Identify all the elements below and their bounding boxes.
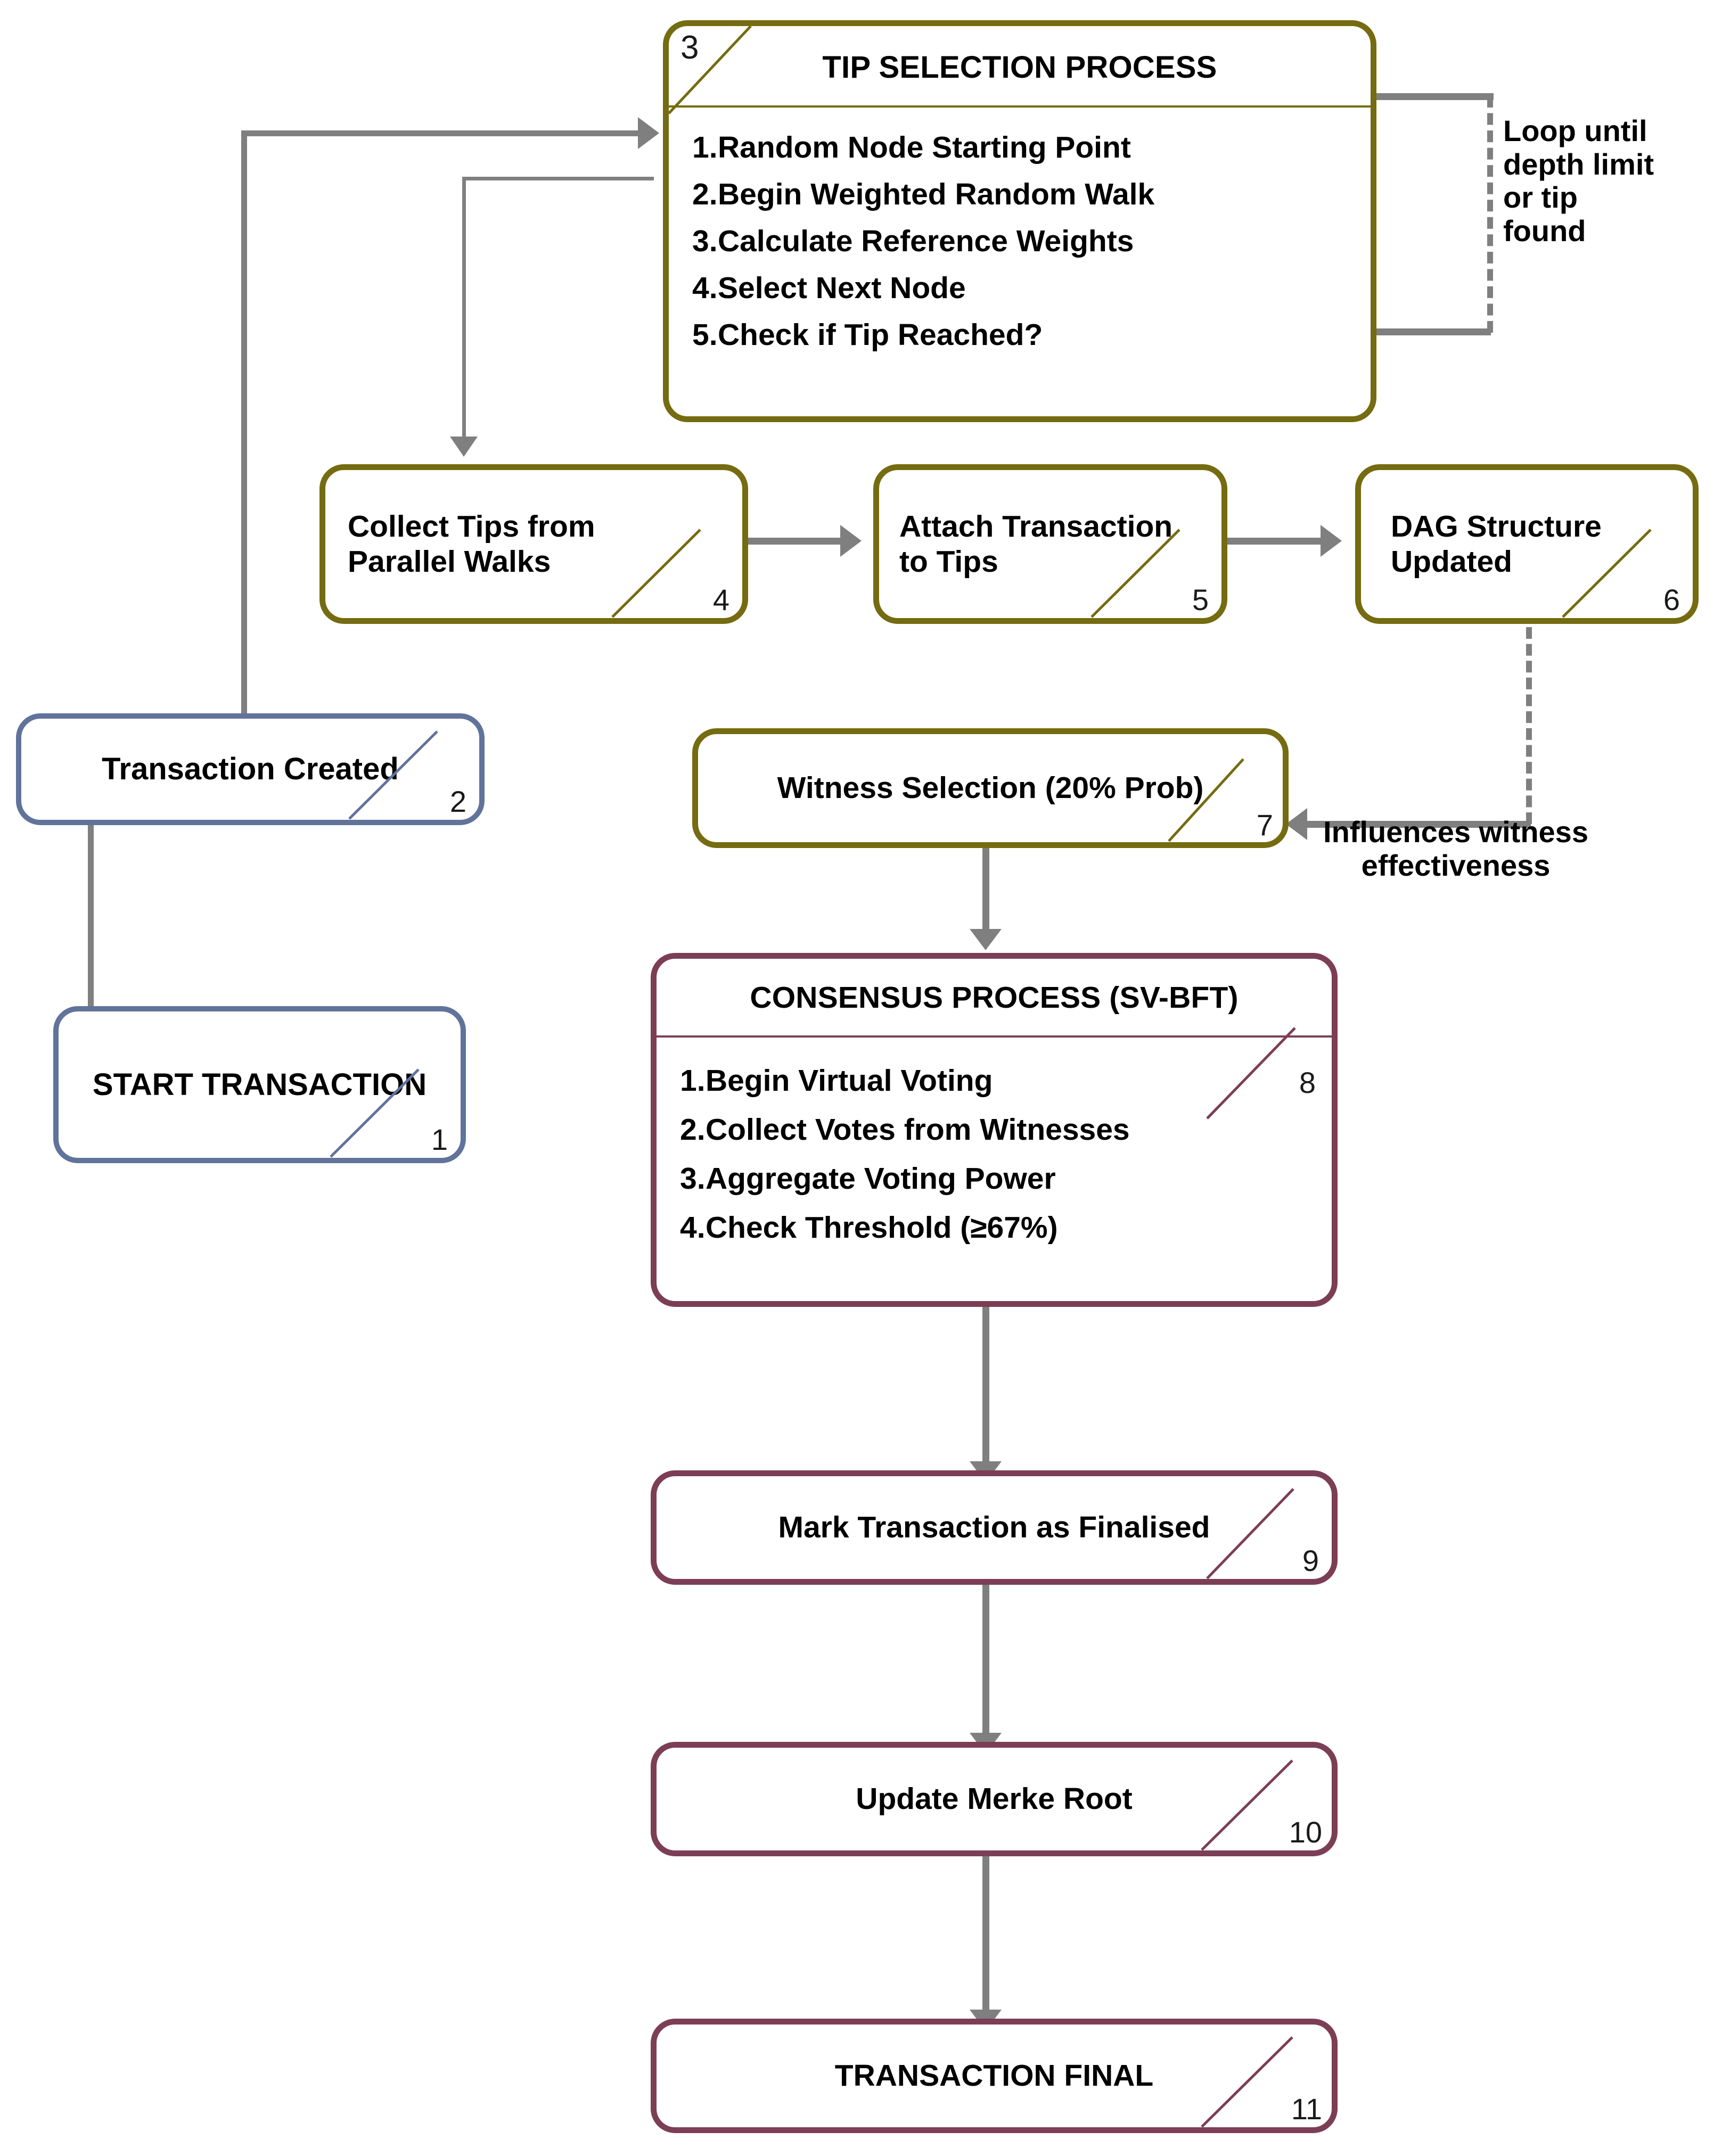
node-number: 4 — [713, 585, 729, 615]
connector-start-to-created — [88, 822, 94, 1006]
node-collect-tips[interactable]: Collect Tips from Parallel Walks 4 — [319, 464, 748, 624]
step-number: 3. — [657, 1161, 706, 1196]
connector-tipselection-to-collect-v — [462, 177, 466, 438]
influences-line-2: effectiveness — [1280, 849, 1631, 883]
step-text: Check if Tip Reached? — [718, 317, 1043, 352]
list-item: 1. Begin Virtual Voting — [657, 1063, 1332, 1098]
step-number: 4. — [669, 270, 718, 306]
step-text: Random Node Starting Point — [718, 130, 1131, 165]
step-text: Aggregate Voting Power — [706, 1161, 1056, 1196]
list-item: 1. Random Node Starting Point — [669, 130, 1371, 165]
node-number: 11 — [1291, 2094, 1322, 2124]
consensus-header: CONSENSUS PROCESS (SV-BFT) — [657, 959, 1332, 1015]
consensus-steps: 1. Begin Virtual Voting 2. Collect Votes… — [657, 1038, 1332, 1245]
loop-line-1: Loop until — [1503, 114, 1711, 148]
step-number: 5. — [669, 317, 718, 352]
node-dag-updated[interactable]: DAG Structure Updated 6 — [1355, 464, 1699, 624]
node-transaction-created[interactable]: Transaction Created 2 — [16, 713, 485, 825]
tip-selection-steps: 1. Random Node Starting Point 2. Begin W… — [669, 108, 1371, 352]
step-number: 1. — [669, 130, 718, 165]
arrowhead-witness-to-consensus — [970, 929, 1002, 950]
attach-line1: Attach Transaction — [879, 509, 1186, 544]
node-witness-selection[interactable]: Witness Selection (20% Prob) 7 — [692, 728, 1289, 848]
transaction-created-label: Transaction Created — [88, 751, 413, 787]
collect-tips-line1: Collect Tips from — [325, 509, 609, 544]
step-text: Select Next Node — [718, 270, 966, 306]
loop-line-4: found — [1503, 215, 1711, 248]
node-update-merkle-root[interactable]: Update Merke Root 10 — [651, 1742, 1338, 1856]
node-number: 9 — [1302, 1546, 1319, 1576]
step-text: Begin Virtual Voting — [706, 1063, 993, 1098]
node-number: 8 — [1299, 1068, 1316, 1098]
list-item: 3. Calculate Reference Weights — [669, 224, 1371, 259]
node-number: 2 — [450, 787, 466, 817]
step-text: Check Threshold (≥67%) — [706, 1210, 1058, 1245]
connector-mark-to-merkle — [982, 1582, 989, 1742]
attach-line2: to Tips — [879, 544, 1012, 579]
list-item: 3. Aggregate Voting Power — [657, 1161, 1332, 1196]
mark-finalised-label: Mark Transaction as Finalised — [765, 1510, 1224, 1545]
connector-loop-top — [1368, 93, 1494, 100]
update-merkle-label: Update Merke Root — [842, 1781, 1146, 1816]
list-item: 5. Check if Tip Reached? — [669, 317, 1371, 352]
edge-label-loop: Loop until depth limit or tip found — [1503, 114, 1711, 248]
node-transaction-final[interactable]: TRANSACTION FINAL 11 — [651, 2019, 1338, 2133]
dag-line2: Updated — [1361, 544, 1526, 579]
transaction-final-label: TRANSACTION FINAL — [821, 2058, 1167, 2093]
node-number: 5 — [1192, 585, 1209, 615]
connector-tipselection-to-collect-h — [462, 177, 654, 180]
loop-line-3: or tip — [1503, 181, 1711, 215]
collect-tips-line2: Parallel Walks — [325, 544, 564, 579]
witness-selection-label: Witness Selection (20% Prob) — [764, 770, 1218, 805]
edge-label-influences: Influences witness effectiveness — [1280, 816, 1631, 882]
connector-created-right — [241, 130, 638, 136]
node-number: 7 — [1257, 810, 1273, 840]
start-transaction-label: START TRANSACTION — [79, 1067, 440, 1102]
step-number: 2. — [669, 177, 718, 212]
connector-merkle-to-final — [982, 1854, 989, 2019]
step-number: 3. — [669, 224, 718, 259]
step-text: Begin Weighted Random Walk — [718, 177, 1154, 212]
list-item: 4. Check Threshold (≥67%) — [657, 1210, 1332, 1245]
connector-collect-to-attach — [747, 538, 840, 545]
step-number: 1. — [657, 1063, 706, 1098]
flowchart-canvas: TIP SELECTION PROCESS 1. Random Node Sta… — [0, 0, 1722, 2156]
node-consensus-process[interactable]: CONSENSUS PROCESS (SV-BFT) 1. Begin Virt… — [651, 953, 1338, 1307]
node-tip-selection-process[interactable]: TIP SELECTION PROCESS 1. Random Node Sta… — [663, 20, 1376, 422]
arrowhead-tipselection-to-collect — [450, 437, 478, 457]
arrowhead-created-to-tipselection — [638, 117, 659, 149]
node-number: 3 — [680, 31, 699, 64]
connector-dag-to-witness-dashed — [1526, 627, 1532, 824]
step-text: Collect Votes from Witnesses — [706, 1112, 1130, 1147]
dag-line1: DAG Structure — [1361, 509, 1616, 544]
node-start-transaction[interactable]: START TRANSACTION 1 — [53, 1006, 466, 1163]
arrowhead-attach-to-dag — [1321, 525, 1342, 557]
connector-consensus-to-mark — [982, 1305, 989, 1470]
step-number: 4. — [657, 1210, 706, 1245]
node-number: 10 — [1289, 1817, 1322, 1847]
connector-created-up — [241, 130, 247, 716]
node-number: 1 — [431, 1125, 448, 1155]
step-text: Calculate Reference Weights — [718, 224, 1134, 259]
list-item: 2. Collect Votes from Witnesses — [657, 1112, 1332, 1147]
loop-line-2: depth limit — [1503, 148, 1711, 182]
node-number: 6 — [1663, 585, 1680, 615]
connector-witness-to-consensus — [982, 847, 989, 935]
connector-loop-bottom — [1368, 328, 1491, 335]
influences-line-1: Influences witness — [1280, 816, 1631, 849]
connector-loop-dashed-riser — [1487, 96, 1493, 333]
step-number: 2. — [657, 1112, 706, 1147]
list-item: 4. Select Next Node — [669, 270, 1371, 306]
node-mark-finalised[interactable]: Mark Transaction as Finalised 9 — [651, 1470, 1338, 1585]
list-item: 2. Begin Weighted Random Walk — [669, 177, 1371, 212]
connector-attach-to-dag — [1227, 538, 1321, 545]
arrowhead-collect-to-attach — [840, 525, 862, 557]
node-attach-transaction[interactable]: Attach Transaction to Tips 5 — [873, 464, 1227, 624]
tip-selection-header: TIP SELECTION PROCESS — [669, 26, 1371, 85]
